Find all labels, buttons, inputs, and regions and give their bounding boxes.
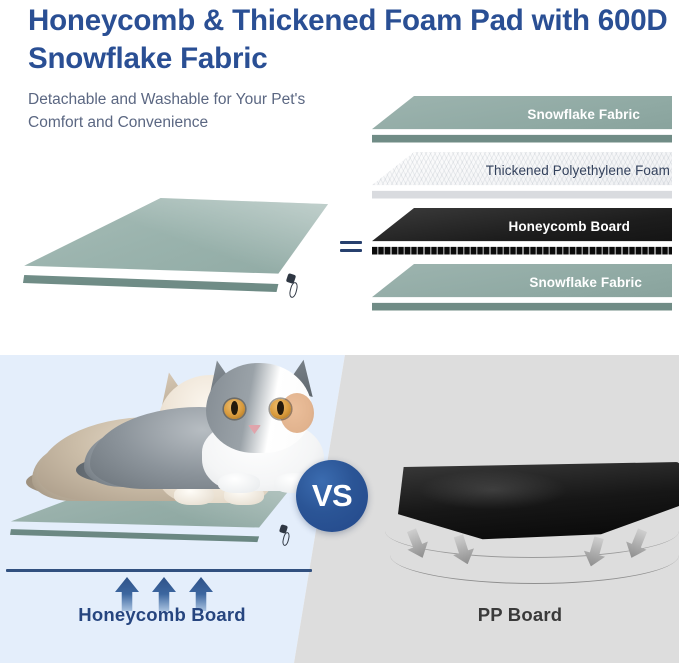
product-feature-section: Honeycomb & Thickened Foam Pad with 600D… [0,0,679,355]
mat-highlight [418,470,568,510]
layer-label: Snowflake Fabric [529,275,642,290]
layer-label: Snowflake Fabric [527,107,640,122]
pet-pad-illustration [18,198,328,308]
zipper-icon [285,274,307,300]
equals-bar-top [340,241,362,244]
vs-badge: VS [296,460,368,532]
layer-polyethylene-foam: Thickened Polyethylene Foam [372,152,672,208]
pp-board-label: PP Board [360,604,679,626]
exploded-layer-diagram: Snowflake Fabric Thickened Polyethylene … [372,96,672,308]
layer-label: Thickened Polyethylene Foam [486,163,670,178]
grey-cat-illustration [90,363,336,489]
zipper-pull [288,281,299,298]
layer-snowflake-fabric-bottom: Snowflake Fabric [372,264,672,320]
cat-paw-left [218,473,260,493]
zipper-icon [279,525,295,547]
layer-label: Honeycomb Board [508,219,630,234]
page-title: Honeycomb & Thickened Foam Pad with 600D… [28,2,668,78]
honeycomb-board-label: Honeycomb Board [0,604,324,626]
cat-eye-left [224,399,245,419]
zipper-pull [281,531,290,546]
support-baseline [6,569,312,572]
equals-bar-bottom [340,249,362,252]
pad-highlight [18,198,328,286]
layer-snowflake-fabric-top: Snowflake Fabric [372,96,672,152]
cat-eye-right [270,399,291,419]
layer-honeycomb-board: Honeycomb Board [372,208,672,264]
equals-sign-icon [340,240,362,256]
page-subtitle: Detachable and Washable for Your Pet's C… [28,88,358,135]
